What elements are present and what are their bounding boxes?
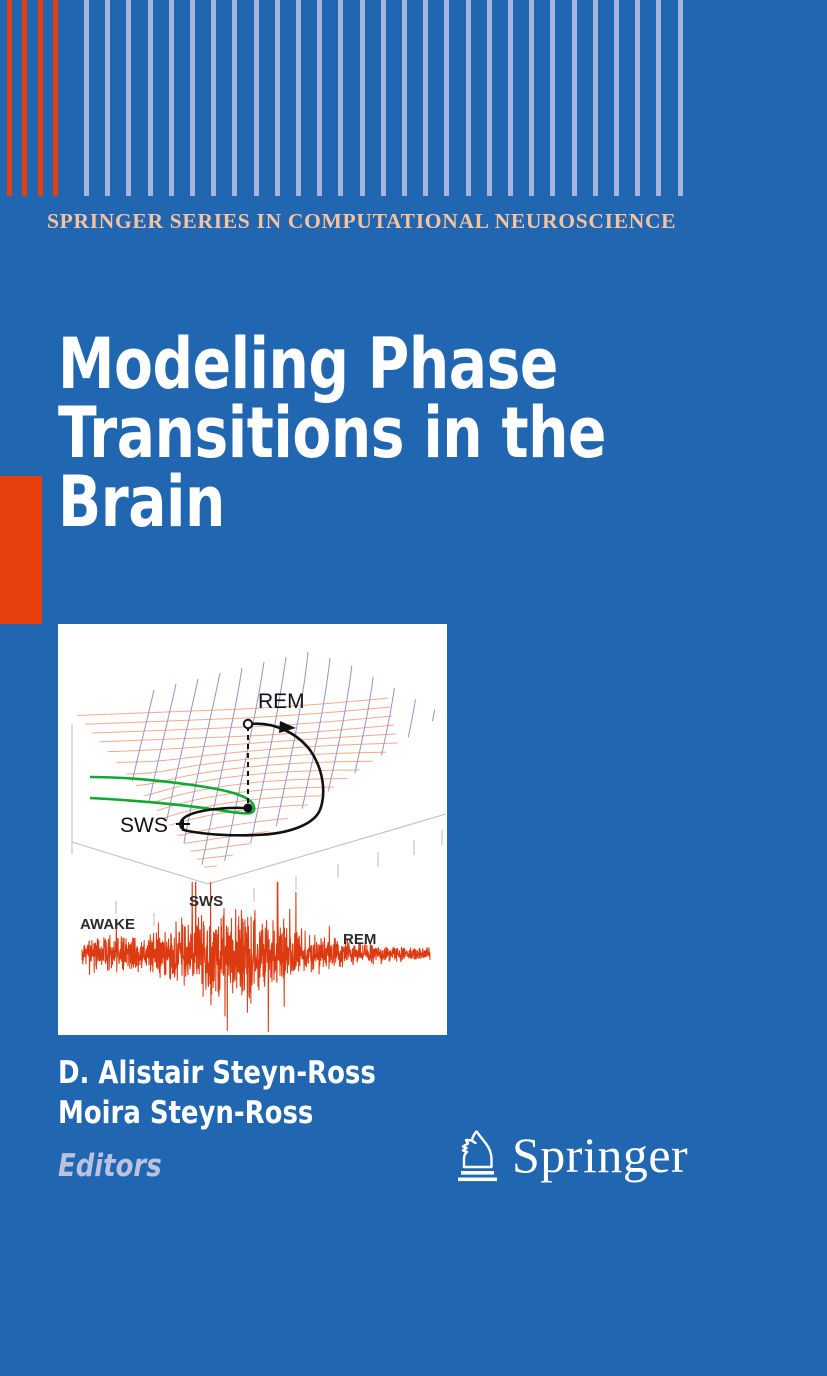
stripe-lavender-23: [550, 0, 555, 196]
editors-role-label: Editors: [58, 1148, 162, 1184]
stripe-orange-4: [53, 0, 58, 196]
stripe-lavender-14: [360, 0, 365, 196]
title-line-1: Modeling Phase: [58, 330, 598, 399]
stripe-lavender-28: [656, 0, 661, 196]
stripe-lavender-5: [169, 0, 174, 196]
stripe-lavender-20: [487, 0, 492, 196]
stripe-lavender-11: [296, 0, 301, 196]
stripe-lavender-29: [678, 0, 683, 196]
stripe-lavender-22: [529, 0, 534, 196]
surface-label-sws: SWS: [120, 814, 168, 837]
stripe-lavender-19: [466, 0, 471, 196]
eeg-label-rem: REM: [343, 931, 376, 948]
stripe-lavender-17: [423, 0, 428, 196]
stripe-lavender-15: [381, 0, 386, 196]
stripe-lavender-7: [211, 0, 216, 196]
stripe-lavender-2: [105, 0, 110, 196]
stripe-orange-2: [22, 0, 27, 196]
title-line-3: Brain: [58, 468, 598, 537]
series-title: SPRINGER SERIES IN COMPUTATIONAL NEUROSC…: [47, 209, 676, 234]
stripe-band: [0, 0, 827, 196]
springer-wordmark: Springer: [512, 1130, 688, 1180]
springer-knight-icon: [452, 1126, 500, 1184]
stripe-orange-1: [7, 0, 12, 196]
title-line-2: Transitions in the: [58, 399, 598, 468]
stripe-lavender-18: [444, 0, 449, 196]
stripe-lavender-4: [148, 0, 153, 196]
stripe-lavender-12: [317, 0, 322, 196]
author-2: Moira Steyn-Ross: [58, 1094, 376, 1134]
sws-state-marker: [243, 803, 252, 812]
rem-state-marker: [244, 720, 252, 728]
stripe-lavender-25: [593, 0, 598, 196]
book-cover: SPRINGER SERIES IN COMPUTATIONAL NEUROSC…: [0, 0, 827, 1376]
stripe-lavender-6: [190, 0, 195, 196]
eeg-label-awake: AWAKE: [80, 916, 135, 933]
stripe-lavender-21: [508, 0, 513, 196]
springer-logo: Springer: [452, 1126, 688, 1184]
stripe-lavender-16: [402, 0, 407, 196]
stripe-lavender-24: [572, 0, 577, 196]
page-title: Modeling Phase Transitions in the Brain: [58, 330, 598, 537]
author-1: D. Alistair Steyn-Ross: [58, 1054, 376, 1094]
stripe-lavender-8: [232, 0, 237, 196]
stripe-lavender-27: [635, 0, 640, 196]
stripe-orange-3: [38, 0, 43, 196]
cover-illustration-panel: REM SWS AWAKE SWS REM: [58, 624, 447, 1035]
surface-label-rem: REM: [258, 690, 305, 713]
eeg-label-sws: SWS: [189, 893, 223, 910]
stripe-lavender-3: [126, 0, 131, 196]
orange-accent-block: [0, 476, 42, 624]
author-list: D. Alistair Steyn-Ross Moira Steyn-Ross: [58, 1054, 376, 1133]
stripe-lavender-9: [254, 0, 259, 196]
stripe-lavender-10: [275, 0, 280, 196]
stripe-lavender-26: [614, 0, 619, 196]
stripe-lavender-1: [84, 0, 89, 196]
cover-artwork-svg: REM SWS AWAKE SWS REM: [58, 624, 447, 1035]
stripe-lavender-13: [338, 0, 343, 196]
